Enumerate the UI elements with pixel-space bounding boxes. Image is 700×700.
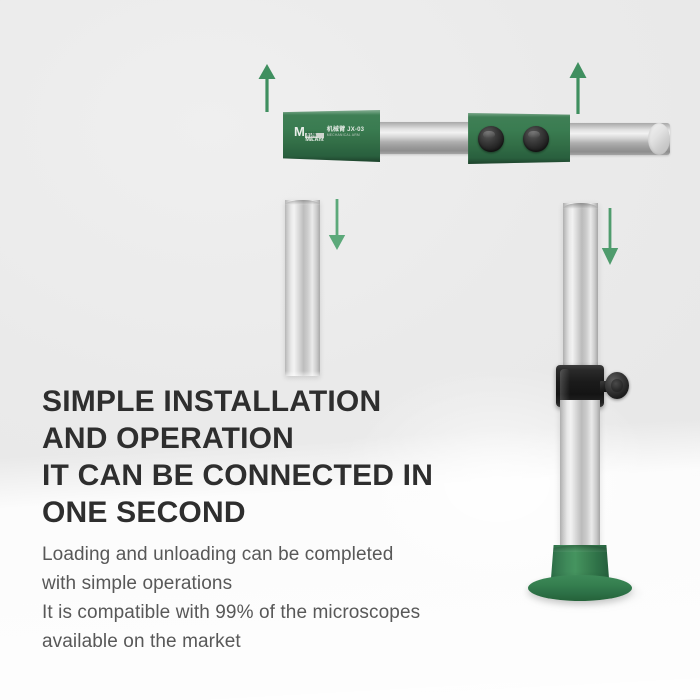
clamp-knob-left[interactable]: [478, 126, 504, 152]
arrow-down-tube: [325, 196, 349, 252]
clamp-knob-right[interactable]: [523, 126, 549, 152]
brand-letter-m: M: [294, 126, 304, 137]
headline: SIMPLE INSTALLATION AND OPERATION IT CAN…: [42, 383, 433, 531]
brand-stack: 机械 Ma.Ant: [305, 133, 323, 144]
body-line-4: available on the market: [42, 627, 420, 656]
body-line-2: with simple operations: [42, 569, 420, 598]
detached-post-tube: [285, 200, 320, 376]
post-lower-segment: [560, 400, 600, 548]
brand-label: M 机械 Ma.Ant 机械臂 JX-03 MECHANICAL ARM: [294, 126, 364, 144]
body-line-1: Loading and unloading can be completed: [42, 540, 420, 569]
post-upper-segment: [563, 203, 598, 388]
product-feature-banner: M 机械 Ma.Ant 机械臂 JX-03 MECHANICAL ARM: [0, 0, 700, 700]
body-copy: Loading and unloading can be completed w…: [42, 540, 420, 656]
arrow-up-right: [565, 60, 591, 116]
headline-line-3: IT CAN BE CONNECTED IN: [42, 457, 433, 494]
arrow-up-left: [254, 62, 280, 114]
tube-top-edge: [285, 200, 320, 205]
brand-model-sublabel: MECHANICAL ARM: [327, 134, 364, 138]
collar-highlight: [560, 369, 571, 403]
body-line-3: It is compatible with 99% of the microsc…: [42, 598, 420, 627]
headline-line-2: AND OPERATION: [42, 420, 433, 457]
tube-bottom-edge: [285, 371, 320, 376]
brand-name: Ma.Ant: [305, 138, 323, 144]
brand-logo-mark: M 机械 Ma.Ant: [294, 126, 324, 144]
base-collar-top-edge: [549, 545, 611, 552]
arm-rod-left: [372, 122, 482, 154]
post-top-edge: [563, 203, 598, 209]
brand-model-group: 机械臂 JX-03 MECHANICAL ARM: [327, 126, 364, 138]
base-flange-top-face: [528, 573, 632, 588]
post-lock-knob[interactable]: [605, 372, 629, 399]
arm-rod-end-cap: [648, 123, 670, 155]
headline-line-1: SIMPLE INSTALLATION: [42, 383, 433, 420]
arrow-down-post: [598, 205, 622, 267]
headline-line-4: ONE SECOND: [42, 494, 433, 531]
